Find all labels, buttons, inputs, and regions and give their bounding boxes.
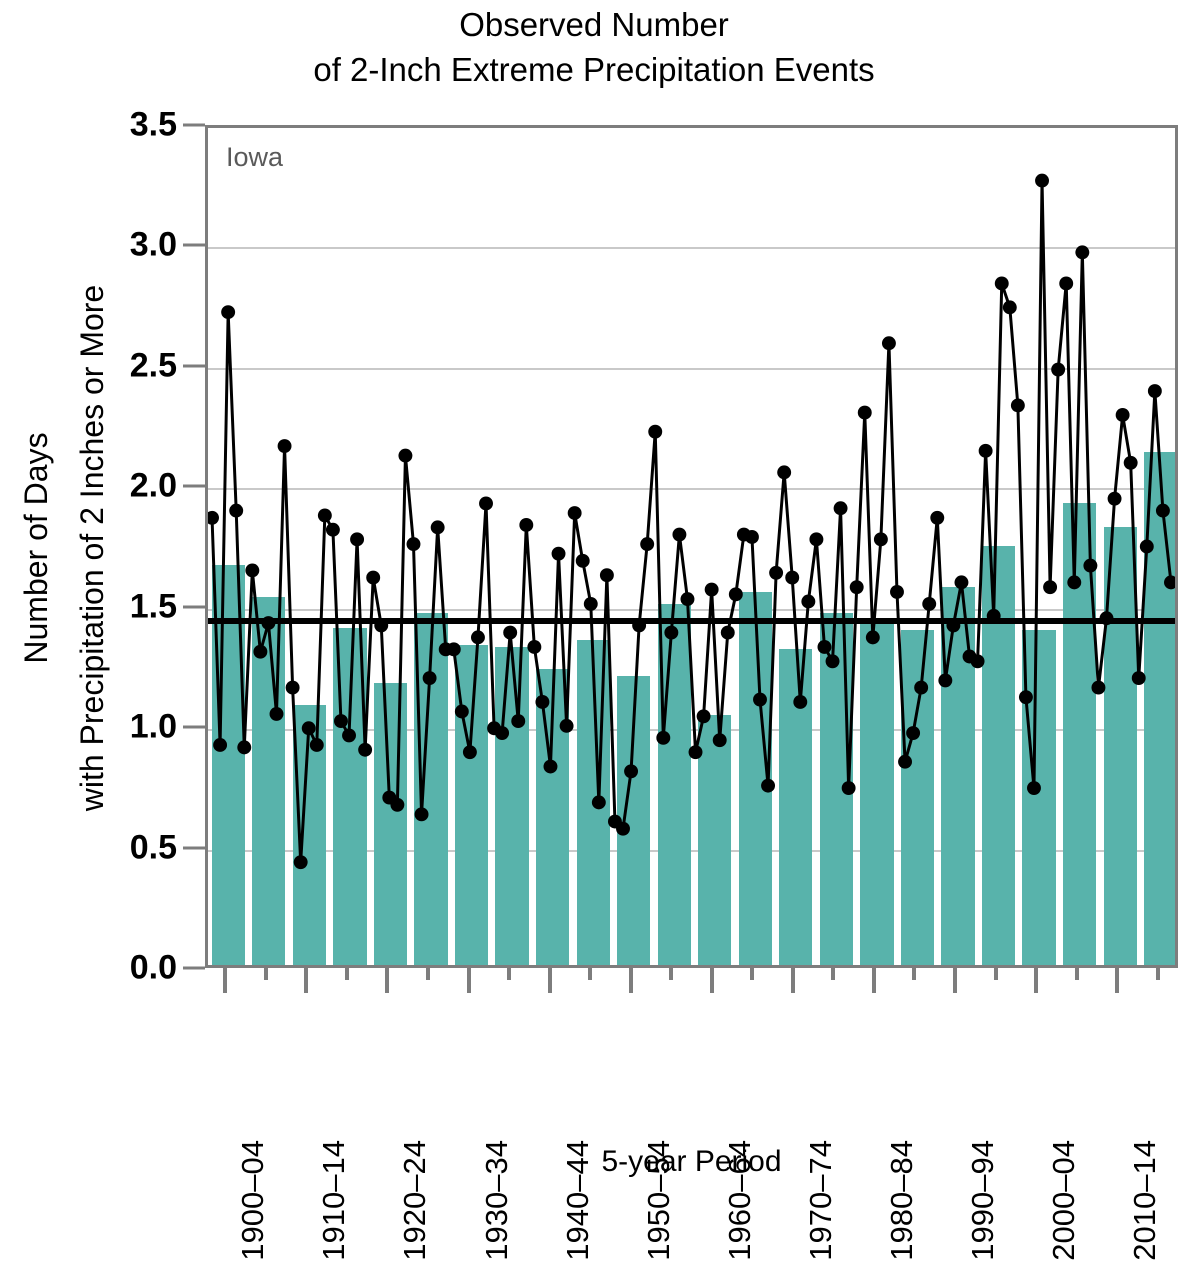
x-tick-major: [1115, 968, 1119, 993]
data-point: [834, 501, 848, 515]
data-point: [809, 532, 823, 546]
data-point: [519, 518, 533, 532]
data-point: [995, 276, 1009, 290]
x-tick-minor: [426, 968, 430, 980]
data-point: [535, 695, 549, 709]
data-point: [245, 563, 259, 577]
x-tick-major: [467, 968, 471, 993]
data-point: [270, 707, 284, 721]
data-point: [366, 571, 380, 585]
data-point: [648, 425, 662, 439]
y-axis-title-line-1: Number of Days: [8, 284, 64, 810]
data-point: [423, 671, 437, 685]
data-point: [302, 721, 316, 735]
data-point: [850, 580, 864, 594]
data-point: [431, 520, 445, 534]
x-tick-minor: [669, 968, 673, 980]
data-point: [890, 585, 904, 599]
data-point: [721, 626, 735, 640]
data-point: [842, 781, 856, 795]
data-point: [221, 305, 235, 319]
data-point: [600, 568, 614, 582]
data-point: [777, 465, 791, 479]
y-tick-label: 0.5: [111, 828, 177, 867]
data-point: [544, 760, 558, 774]
data-point: [753, 693, 767, 707]
data-point: [664, 626, 678, 640]
data-point: [656, 731, 670, 745]
x-axis-tick-labels: 1900–041910–141920–241930–341940–441950–…: [205, 998, 1178, 1143]
data-point: [793, 695, 807, 709]
data-point: [552, 547, 566, 561]
data-point: [463, 745, 477, 759]
data-point: [1043, 580, 1057, 594]
x-tick-minor: [507, 968, 511, 980]
y-tick-label: 1.0: [111, 708, 177, 747]
x-tick-minor: [1156, 968, 1160, 980]
x-tick-major: [791, 968, 795, 993]
data-point: [914, 681, 928, 695]
data-point: [1059, 276, 1073, 290]
data-point: [640, 537, 654, 551]
data-point: [310, 738, 324, 752]
data-point: [503, 626, 517, 640]
data-point: [697, 709, 711, 723]
x-tick-major: [223, 968, 227, 993]
data-point: [930, 511, 944, 525]
data-point: [906, 726, 920, 740]
annual-series: [208, 128, 1175, 965]
annual-line: [212, 181, 1171, 863]
data-point: [415, 807, 429, 821]
x-tick-minor: [750, 968, 754, 980]
x-tick-minor: [588, 968, 592, 980]
data-point: [1067, 575, 1081, 589]
data-point: [818, 640, 832, 654]
data-point: [874, 532, 888, 546]
data-point: [560, 719, 574, 733]
data-point: [253, 645, 267, 659]
data-point: [672, 528, 686, 542]
data-point: [1116, 408, 1130, 422]
x-tick-major: [872, 968, 876, 993]
data-point: [866, 630, 880, 644]
data-point: [769, 566, 783, 580]
data-point: [971, 654, 985, 668]
mean-line: [208, 618, 1175, 624]
data-point: [455, 705, 469, 719]
y-tick-label: 0.0: [111, 949, 177, 988]
y-tick-mark: [183, 605, 205, 608]
x-tick-minor: [994, 968, 998, 980]
data-point: [584, 597, 598, 611]
data-point: [495, 726, 509, 740]
y-tick-mark: [183, 846, 205, 849]
x-axis-title: 5-year Period: [205, 1145, 1178, 1179]
chart-figure: Observed Number of 2-Inch Extreme Precip…: [0, 0, 1188, 1200]
data-point: [511, 714, 525, 728]
data-point: [858, 406, 872, 420]
x-tick-major: [385, 968, 389, 993]
data-point: [326, 523, 340, 537]
chart-title: Observed Number of 2-Inch Extreme Precip…: [0, 2, 1188, 92]
data-point: [785, 571, 799, 585]
y-axis-ticks: 0.00.51.01.52.02.53.03.5: [125, 125, 205, 968]
data-point: [616, 822, 630, 836]
data-point: [681, 592, 695, 606]
x-tick-major: [629, 968, 633, 993]
data-point: [278, 439, 292, 453]
data-point: [1011, 398, 1025, 412]
y-tick-mark: [183, 485, 205, 488]
data-point: [1132, 671, 1146, 685]
x-tick-major: [710, 968, 714, 993]
data-point: [882, 336, 896, 350]
data-point: [568, 506, 582, 520]
data-point: [1124, 456, 1138, 470]
data-point: [801, 595, 815, 609]
data-point: [350, 532, 364, 546]
data-point: [1019, 690, 1033, 704]
data-point: [1027, 781, 1041, 795]
data-point: [1156, 504, 1170, 518]
data-point: [922, 597, 936, 611]
data-point: [729, 587, 743, 601]
y-axis-title: Number of Days with Precipitation of 2 I…: [0, 125, 128, 970]
x-tick-minor: [831, 968, 835, 980]
data-point: [1140, 540, 1154, 554]
data-point: [624, 764, 638, 778]
data-point: [294, 855, 308, 869]
data-point: [898, 755, 912, 769]
chart-title-line-2: of 2-Inch Extreme Precipitation Events: [0, 47, 1188, 92]
data-point: [358, 743, 372, 757]
data-point: [713, 733, 727, 747]
data-point: [334, 714, 348, 728]
data-point: [479, 497, 493, 511]
data-point: [398, 449, 412, 463]
data-point: [1003, 300, 1017, 314]
x-tick-minor: [264, 968, 268, 980]
data-point: [1035, 174, 1049, 188]
data-point: [761, 779, 775, 793]
y-tick-mark: [183, 364, 205, 367]
y-tick-label: 1.5: [111, 587, 177, 626]
data-point: [527, 640, 541, 654]
data-point: [471, 630, 485, 644]
data-point: [745, 530, 759, 544]
data-point: [286, 681, 300, 695]
data-point: [1164, 575, 1175, 589]
data-point: [979, 444, 993, 458]
data-point: [342, 728, 356, 742]
x-tick-minor: [345, 968, 349, 980]
y-tick-label: 3.0: [111, 226, 177, 265]
data-point: [1091, 681, 1105, 695]
data-point: [390, 798, 404, 812]
data-point: [705, 583, 719, 597]
y-tick-mark: [183, 726, 205, 729]
chart-title-line-1: Observed Number: [0, 2, 1188, 47]
data-point: [208, 511, 219, 525]
data-point: [689, 745, 703, 759]
data-point: [1075, 245, 1089, 259]
x-tick-major: [1034, 968, 1038, 993]
data-point: [1051, 363, 1065, 377]
y-tick-mark: [183, 967, 205, 970]
x-tick-major: [953, 968, 957, 993]
y-tick-label: 3.5: [111, 106, 177, 145]
data-point: [318, 508, 332, 522]
y-tick-mark: [183, 244, 205, 247]
x-tick-minor: [1075, 968, 1079, 980]
data-point: [576, 554, 590, 568]
plot-area: Iowa: [205, 125, 1178, 968]
y-tick-mark: [183, 124, 205, 127]
x-tick-major: [548, 968, 552, 993]
x-tick-minor: [912, 968, 916, 980]
data-point: [229, 504, 243, 518]
x-axis-ticks: [205, 968, 1178, 998]
data-point: [1108, 492, 1122, 506]
x-tick-major: [304, 968, 308, 993]
data-point: [938, 673, 952, 687]
data-point: [407, 537, 421, 551]
data-point: [954, 575, 968, 589]
data-point: [1083, 559, 1097, 573]
data-point: [447, 642, 461, 656]
y-tick-label: 2.5: [111, 346, 177, 385]
data-point: [1148, 384, 1162, 398]
y-tick-label: 2.0: [111, 467, 177, 506]
data-point: [826, 654, 840, 668]
data-point: [592, 795, 606, 809]
data-point: [213, 738, 227, 752]
data-point: [237, 740, 251, 754]
